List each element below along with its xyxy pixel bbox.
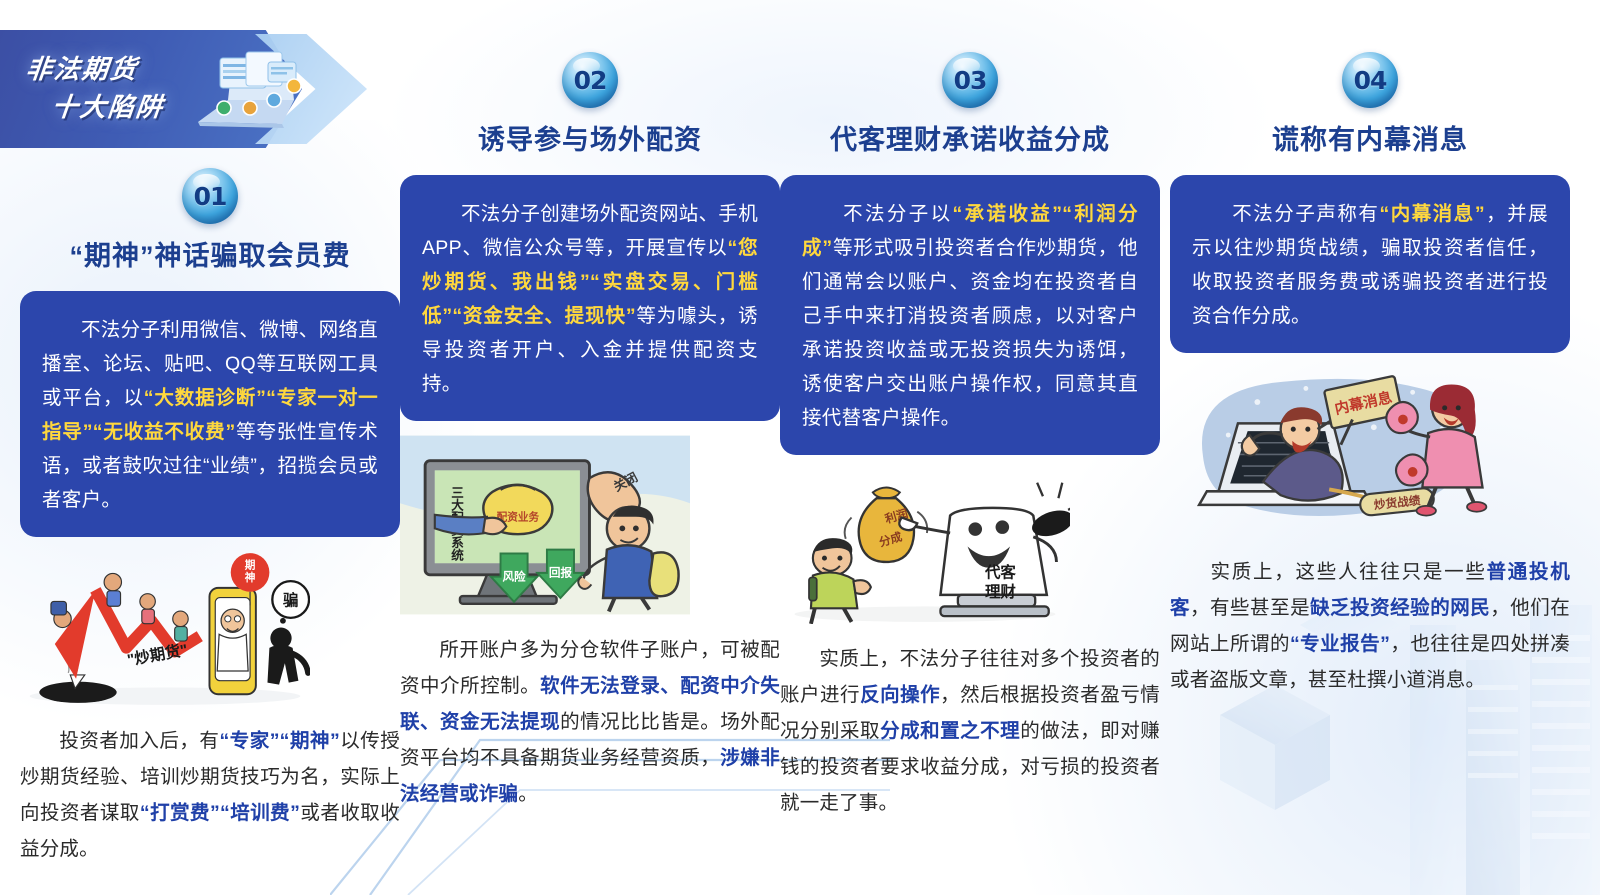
plain-text: 不法分子以 xyxy=(841,203,953,225)
illustration-04: 内幕消息 炒货战绩 xyxy=(1170,367,1570,542)
plain-text: 等形式吸引投资者合作炒期货，他们通常会以账户、资金均在投资者自己手中来打消投资者… xyxy=(802,237,1138,429)
plain-text: 不法分子声称有 xyxy=(1231,203,1379,225)
banner-title: 非法期货 十大陷阱 xyxy=(20,50,218,126)
column-body-02: 所开账户多为分仓软件子账户，可被配资中介所控制。软件无法登录、配资中介失联、资金… xyxy=(400,632,780,812)
column-body-04: 实质上，这些人往往只是一些普通投机客，有些甚至是缺乏投资经验的网民，他们在网站上… xyxy=(1170,554,1570,698)
banner-title-line1: 非法期货 xyxy=(24,54,139,84)
monitor-funding-cartoon: 三大配资系统 配资业务 风险 回报 xyxy=(400,435,690,615)
column-title-01: “期神”神话骗取会员费 xyxy=(20,234,400,273)
plain-text: ，有些甚至是 xyxy=(1190,597,1310,619)
highlighted-text: “专业报告” xyxy=(1290,633,1390,655)
svg-text:神: 神 xyxy=(245,571,256,584)
illustration-03: 利润 分成 代客 理财 xyxy=(780,469,1160,629)
column-body-01: 投资者加入后，有“专家”“期神”以传授炒期货经验、培训炒期货技巧为名，实际上向投… xyxy=(20,723,400,867)
laptop-insider-news-cartoon: 内幕消息 炒货战绩 xyxy=(1170,367,1500,537)
badge-number-label: 04 xyxy=(1354,66,1387,95)
column-04: 04 谎称有内幕消息 不法分子声称有“内幕消息”，并展示以往炒期货战绩，骗取投资… xyxy=(1170,52,1570,698)
column-01: 01 “期神”神话骗取会员费 不法分子利用微信、微博、网络直播室、论坛、贴吧、Q… xyxy=(20,168,400,867)
svg-text:回报: 回报 xyxy=(549,566,573,580)
svg-text:风险: 风险 xyxy=(502,570,526,584)
column-title-02: 诱导参与场外配资 xyxy=(400,118,780,157)
column-title-04: 谎称有内幕消息 xyxy=(1170,118,1570,157)
svg-text:期: 期 xyxy=(245,559,256,572)
money-bag-computer-cartoon: 利润 分成 代客 理财 xyxy=(780,469,1070,624)
column-box-01: 不法分子利用微信、微博、网络直播室、论坛、贴吧、QQ等互联网工具或平台，以“大数… xyxy=(20,291,400,537)
column-body-03: 实质上，不法分子往往对多个投资者的账户进行反向操作，然后根据投资者盈亏情况分别采… xyxy=(780,641,1160,821)
svg-text:理财: 理财 xyxy=(985,582,1016,601)
illustration-01: "炒期货" xyxy=(20,551,400,711)
highlighted-text: 缺乏投资经验的网民 xyxy=(1310,597,1490,619)
highlighted-text: “内幕消息” xyxy=(1379,203,1484,225)
infographic-page: 非法期货 十大陷阱 01 “期神”神话骗取会员费 不法分子利用微信、微博、网络直… xyxy=(0,0,1600,895)
plain-text: 实质上，这些人往往只是一些 xyxy=(1209,561,1487,583)
column-03: 03 代客理财承诺收益分成 不法分子以“承诺收益”“利润分成”等形式吸引投资者合… xyxy=(780,52,1160,821)
number-badge-03: 03 xyxy=(942,52,998,108)
svg-text:代客: 代客 xyxy=(984,562,1016,581)
column-box-04: 不法分子声称有“内幕消息”，并展示以往炒期货战绩，骗取投资者信任，收取投资者服务… xyxy=(1170,175,1570,353)
highlighted-text: 反向操作 xyxy=(860,684,940,706)
highlighted-text: “打赏费”“培训费” xyxy=(140,802,300,824)
badge-number-label: 01 xyxy=(194,182,227,211)
banner-title-line2: 十大陷阱 xyxy=(50,88,214,126)
plain-text: 。 xyxy=(518,783,538,805)
column-02: 02 诱导参与场外配资 不法分子创建场外配资网站、手机APP、微信公众号等，开展… xyxy=(400,52,780,812)
column-box-03: 不法分子以“承诺收益”“利润分成”等形式吸引投资者合作炒期货，他们通常会以账户、… xyxy=(780,175,1160,455)
number-badge-04: 04 xyxy=(1342,52,1398,108)
number-badge-02: 02 xyxy=(562,52,618,108)
illustration-02: 三大配资系统 配资业务 风险 回报 xyxy=(400,435,780,620)
highlighted-text: “专家”“期神” xyxy=(219,730,340,752)
plain-text: 投资者加入后，有 xyxy=(59,730,219,752)
header-banner: 非法期货 十大陷阱 xyxy=(0,30,366,148)
chart-crash-cartoon: "炒期货" xyxy=(20,551,310,706)
badge-number-label: 02 xyxy=(574,66,607,95)
column-box-02: 不法分子创建场外配资网站、手机APP、微信公众号等，开展宣传以“您炒期货、我出钱… xyxy=(400,175,780,421)
number-badge-01: 01 xyxy=(182,168,238,224)
highlighted-text: 分成和置之不理 xyxy=(880,720,1020,742)
svg-text:骗: 骗 xyxy=(283,590,298,609)
column-title-03: 代客理财承诺收益分成 xyxy=(780,118,1160,157)
plain-text: 不法分子创建场外配资网站、手机APP、微信公众号等，开展宣传以 xyxy=(422,203,758,259)
badge-number-label: 03 xyxy=(954,66,987,95)
